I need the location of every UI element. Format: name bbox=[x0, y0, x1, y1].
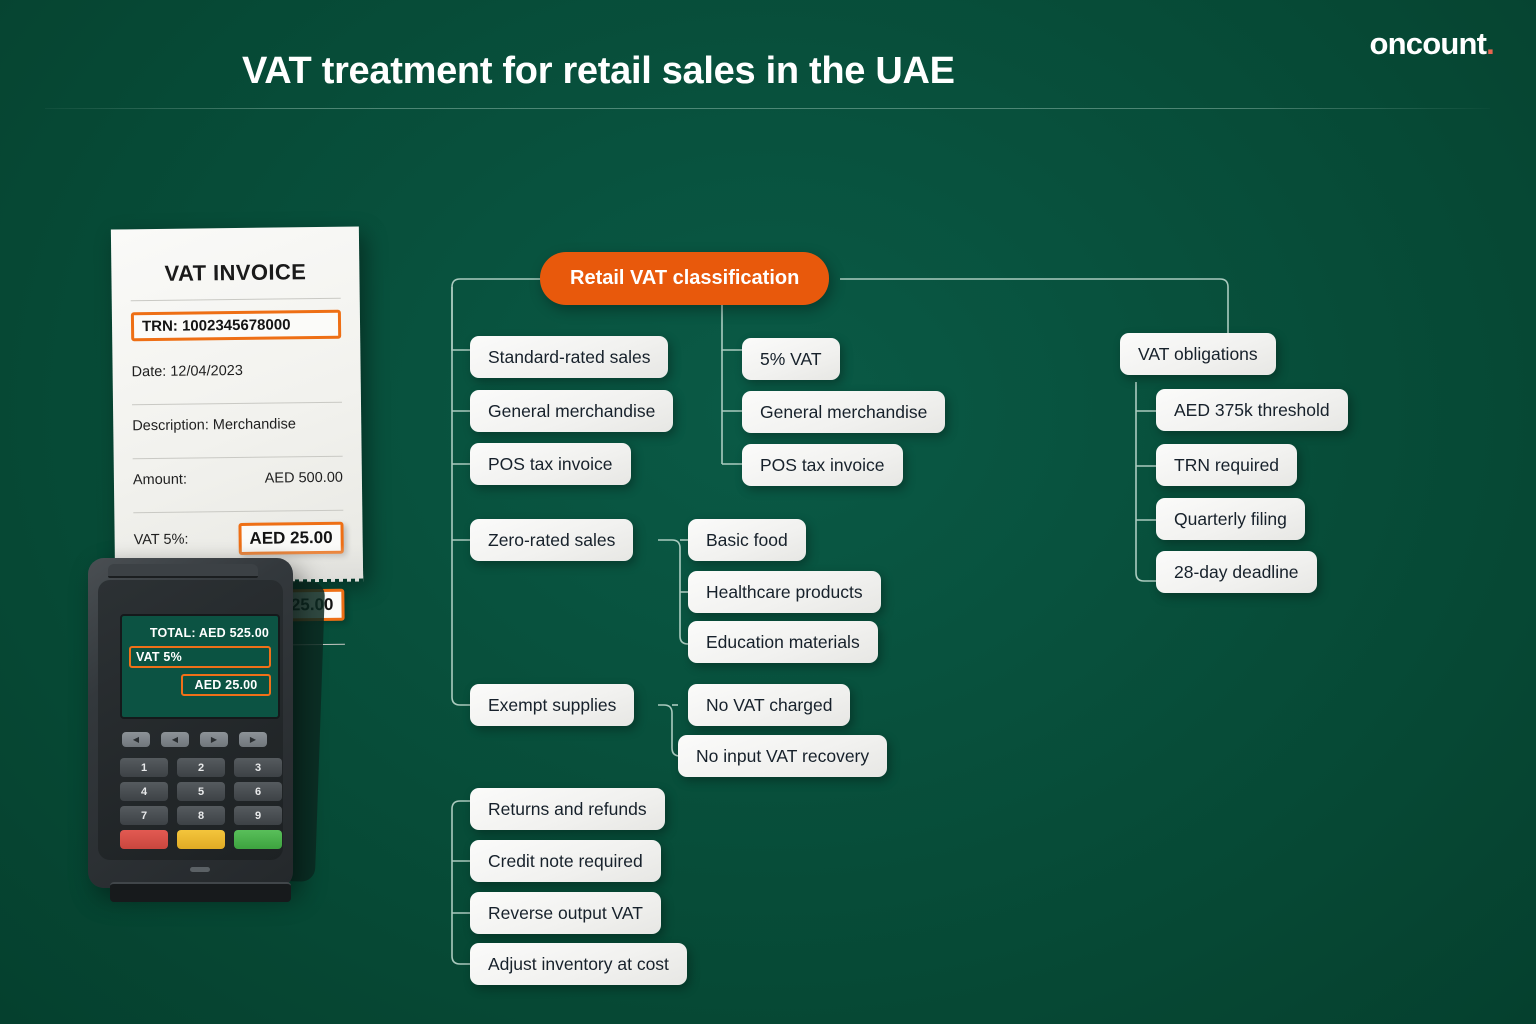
vat-classification-mindmap: Retail VAT classification Standard-rated… bbox=[0, 0, 1536, 1024]
node-aed-375k-threshold[interactable]: AED 375k threshold bbox=[1156, 389, 1348, 431]
node-standard-rated-sales[interactable]: Standard-rated sales bbox=[470, 336, 668, 378]
node-reverse-output-vat[interactable]: Reverse output VAT bbox=[470, 892, 661, 934]
mindmap-root-node[interactable]: Retail VAT classification bbox=[540, 252, 829, 305]
node-credit-note-required[interactable]: Credit note required bbox=[470, 840, 661, 882]
node-quarterly-filing[interactable]: Quarterly filing bbox=[1156, 498, 1305, 540]
node-basic-food[interactable]: Basic food bbox=[688, 519, 806, 561]
node-general-merchandise-mid[interactable]: General merchandise bbox=[742, 391, 945, 433]
node-5-percent-vat[interactable]: 5% VAT bbox=[742, 338, 840, 380]
node-28-day-deadline[interactable]: 28-day deadline bbox=[1156, 551, 1317, 593]
node-adjust-inventory-at-cost[interactable]: Adjust inventory at cost bbox=[470, 943, 687, 985]
node-general-merchandise-left[interactable]: General merchandise bbox=[470, 390, 673, 432]
node-returns-and-refunds[interactable]: Returns and refunds bbox=[470, 788, 665, 830]
node-education-materials[interactable]: Education materials bbox=[688, 621, 878, 663]
node-pos-tax-invoice-mid[interactable]: POS tax invoice bbox=[742, 444, 903, 486]
node-no-input-vat-recovery[interactable]: No input VAT recovery bbox=[678, 735, 887, 777]
node-trn-required[interactable]: TRN required bbox=[1156, 444, 1297, 486]
node-zero-rated-sales[interactable]: Zero-rated sales bbox=[470, 519, 633, 561]
mindmap-connectors bbox=[0, 0, 1536, 1024]
node-vat-obligations[interactable]: VAT obligations bbox=[1120, 333, 1276, 375]
node-healthcare-products[interactable]: Healthcare products bbox=[688, 571, 881, 613]
node-no-vat-charged[interactable]: No VAT charged bbox=[688, 684, 850, 726]
node-exempt-supplies[interactable]: Exempt supplies bbox=[470, 684, 634, 726]
node-pos-tax-invoice-left[interactable]: POS tax invoice bbox=[470, 443, 631, 485]
